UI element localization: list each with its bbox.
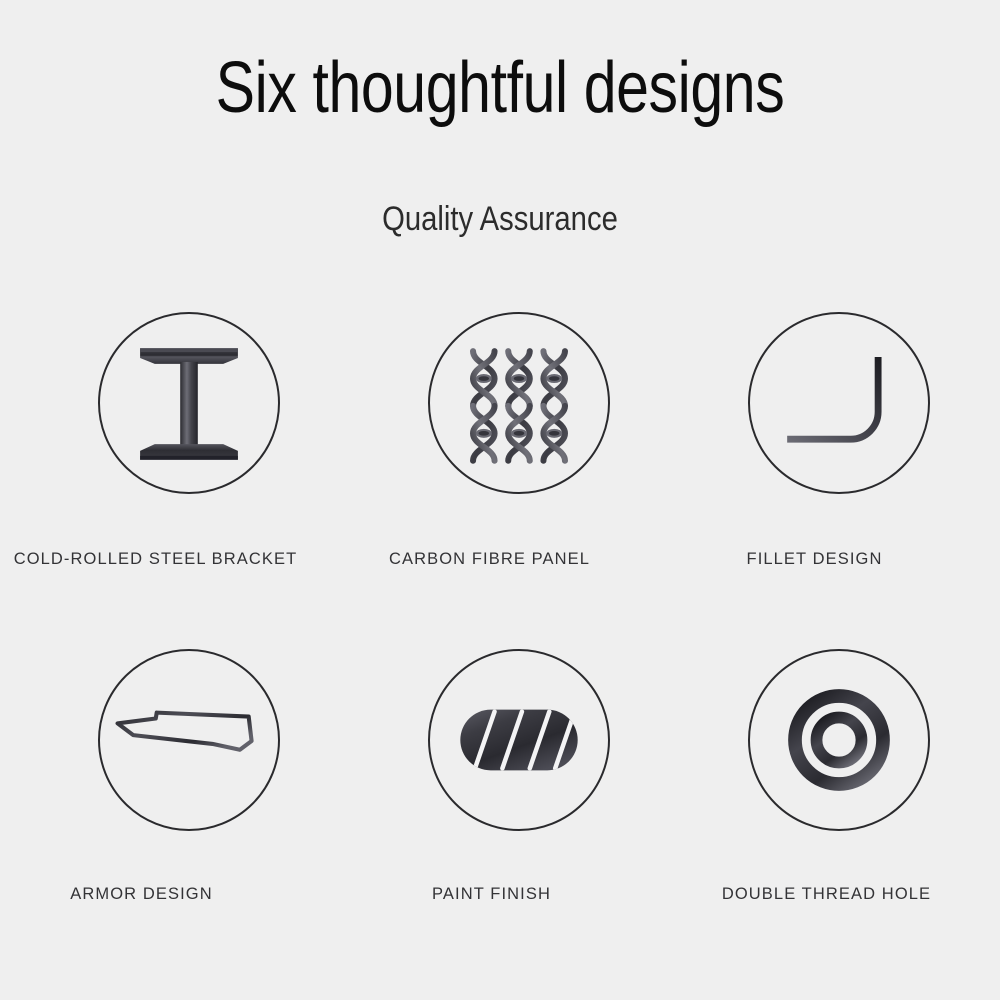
icon-circle-frame — [428, 312, 610, 494]
feature-item-cold-rolled-steel-bracket: COLD-ROLLED STEEL BRACKET — [0, 300, 333, 620]
armor-plate-icon — [100, 651, 278, 829]
feature-item-carbon-fibre-panel: CARBON FIBRE PANEL — [347, 300, 680, 620]
page-subtitle: Quality Assurance — [70, 202, 930, 236]
carbon-weave-icon — [430, 314, 608, 492]
feature-label: CARBON FIBRE PANEL — [323, 550, 656, 569]
icon-circle-frame — [98, 312, 280, 494]
feature-item-armor-design: ARMOR DESIGN — [0, 637, 333, 957]
rounded-corner-icon — [750, 314, 928, 492]
product-feature-infographic: Six thoughtful designs Quality Assurance — [0, 0, 1000, 1000]
icon-circle-frame — [748, 312, 930, 494]
feature-label: DOUBLE THREAD HOLE — [660, 885, 993, 904]
feature-label: FILLET DESIGN — [648, 550, 981, 569]
feature-item-double-thread-hole: DOUBLE THREAD HOLE — [690, 637, 1000, 957]
icon-circle-frame — [748, 649, 930, 831]
striped-pill-icon — [430, 651, 608, 829]
feature-grid: COLD-ROLLED STEEL BRACKET — [0, 300, 1000, 940]
page-title: Six thoughtful designs — [90, 52, 910, 124]
feature-label: ARMOR DESIGN — [0, 885, 308, 904]
feature-item-fillet-design: FILLET DESIGN — [690, 300, 1000, 620]
icon-circle-frame — [428, 649, 610, 831]
icon-circle-frame — [98, 649, 280, 831]
i-beam-icon — [100, 314, 278, 492]
feature-label: PAINT FINISH — [325, 885, 658, 904]
concentric-rings-icon — [750, 651, 928, 829]
feature-label: COLD-ROLLED STEEL BRACKET — [0, 550, 322, 569]
feature-item-paint-finish: PAINT FINISH — [347, 637, 680, 957]
